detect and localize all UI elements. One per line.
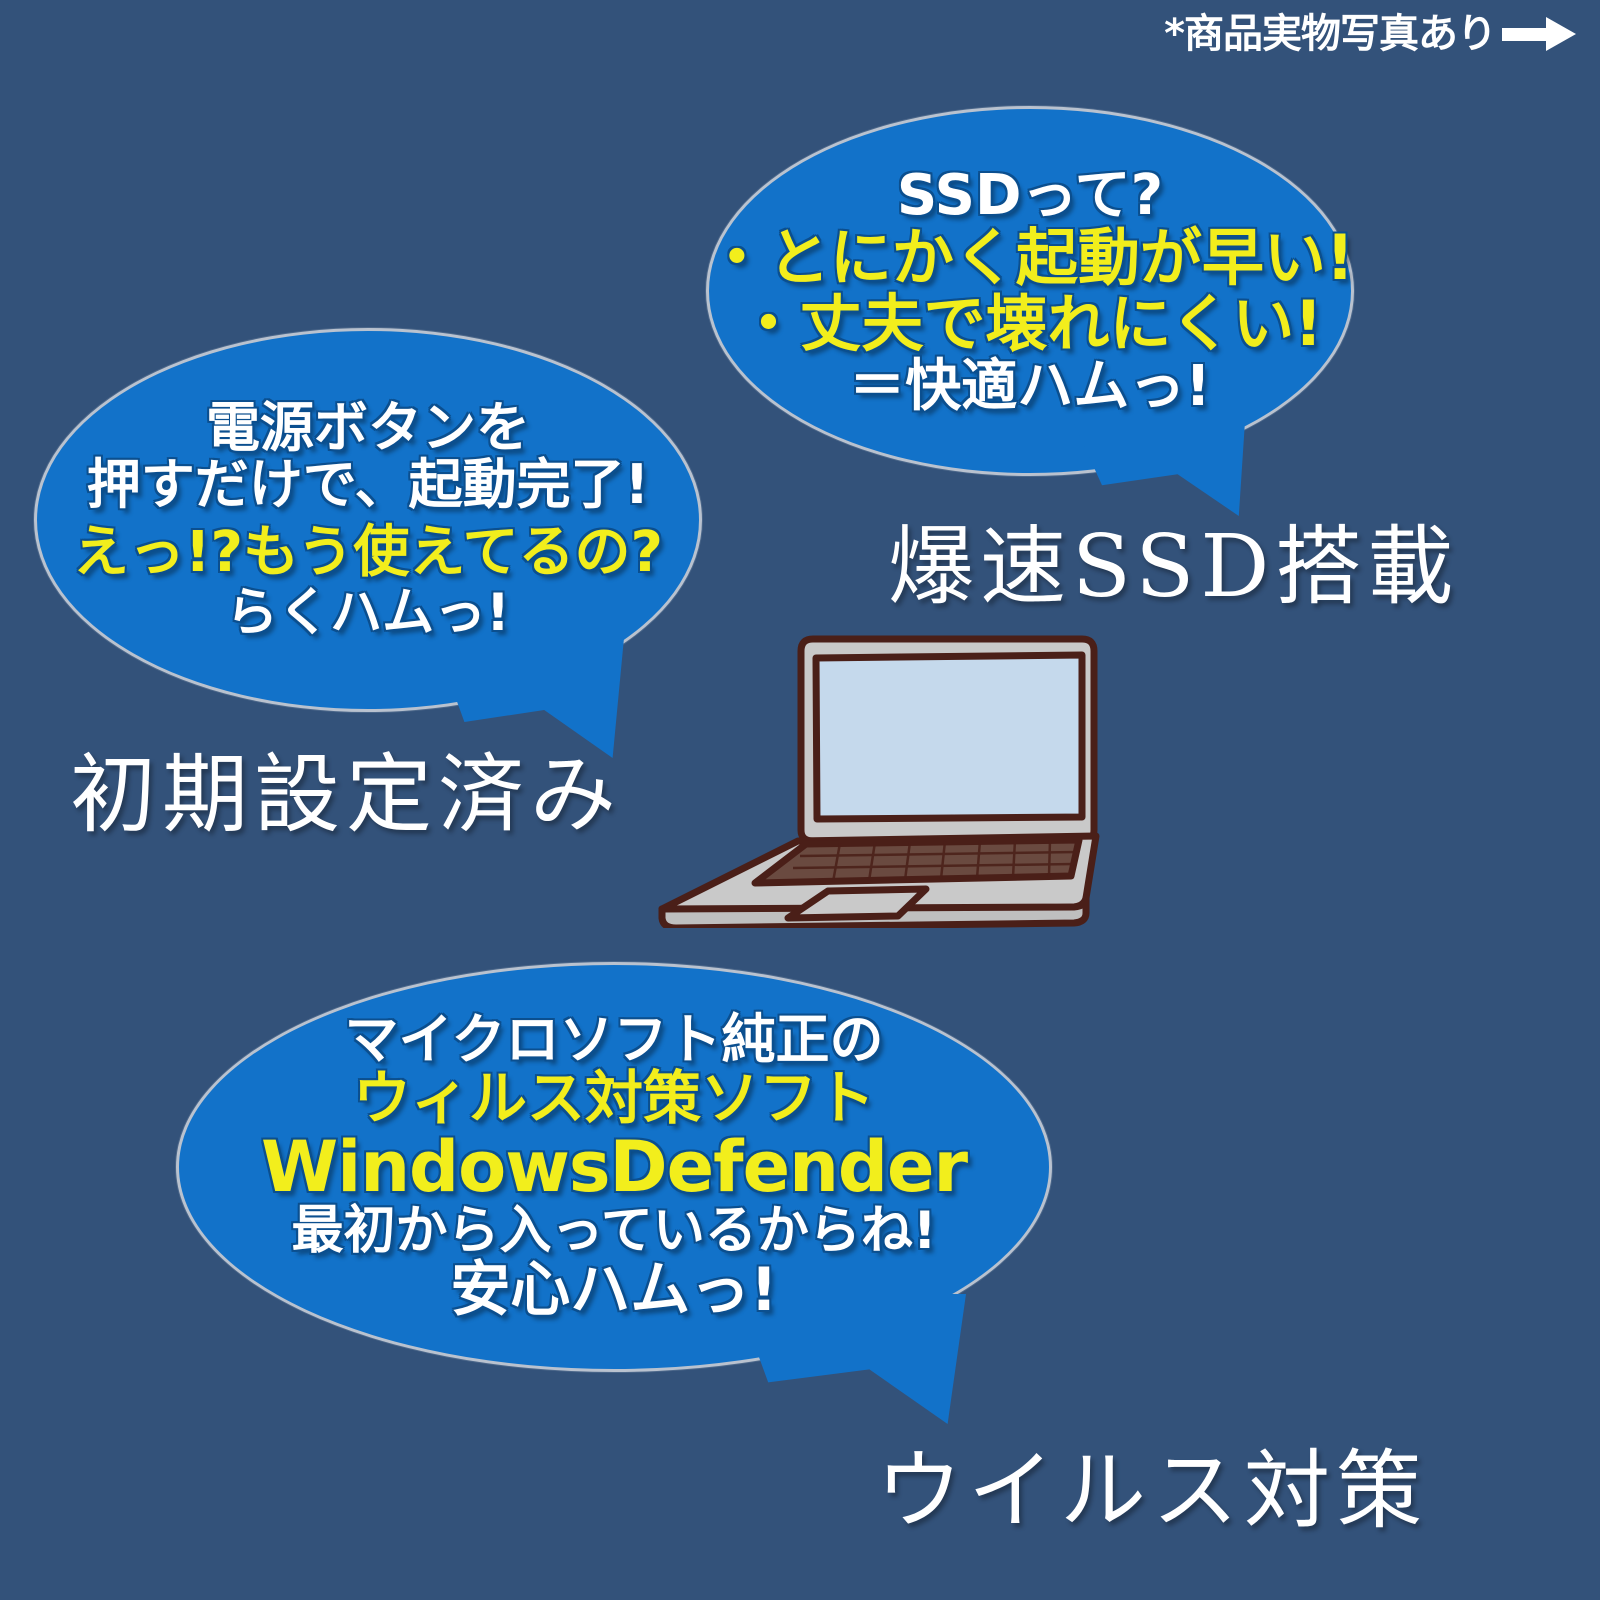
bubble-line: えっ!?もう使えてるの? [73, 523, 663, 582]
bubble-line: 電源ボタンを [206, 399, 530, 456]
bubble-line: ＝快適ハムっ! [849, 357, 1211, 416]
arrow-right-icon-head [1546, 17, 1576, 51]
header-note-text: *商品実物写真あり [1164, 14, 1496, 54]
bubble-line: ウィルス対策ソフト [353, 1068, 875, 1129]
laptop-keyboard [755, 840, 1079, 883]
speech-bubble-ssd: SSDって? ・とにかく起動が早い! ・丈夫で壊れにくい! ＝快適ハムっ! [706, 106, 1354, 476]
bubble-line: ・とにかく起動が早い! [706, 225, 1354, 291]
poster-canvas: *商品実物写真あり SSDって? ・とにかく起動が早い! ・丈夫で壊れにくい! … [0, 0, 1600, 1600]
arrow-right-icon [1502, 17, 1576, 51]
arrow-right-icon-bar [1502, 28, 1550, 41]
speech-bubble-power: 電源ボタンを 押すだけで、起動完了! えっ!?もう使えてるの? らくハムっ! [34, 328, 702, 712]
header-note: *商品実物写真あり [1164, 14, 1576, 54]
caption-virus: ウイルス対策 [876, 1448, 1428, 1534]
bubble-line: マイクロソフト純正の [345, 1011, 884, 1068]
laptop-screen [816, 655, 1082, 819]
bubble-line: 安心ハムっ! [450, 1259, 777, 1323]
speech-bubble-power-lines: 電源ボタンを 押すだけで、起動完了! えっ!?もう使えてるの? らくハムっ! [34, 328, 702, 712]
bubble-line: 押すだけで、起動完了! [87, 456, 649, 513]
bubble-line: SSDって? [897, 166, 1163, 225]
bubble-line: 最初から入っているからね! [291, 1204, 936, 1259]
bubble-line: ・丈夫で壊れにくい! [737, 291, 1322, 357]
bubble-line: WindowsDefender [261, 1130, 967, 1204]
speech-bubble-defender: マイクロソフト純正の ウィルス対策ソフト WindowsDefender 最初か… [176, 962, 1052, 1372]
caption-setup: 初期設定済み [70, 752, 622, 838]
bubble-line: らくハムっ! [226, 586, 510, 641]
caption-ssd: 爆速SSD搭載 [888, 524, 1459, 610]
speech-bubble-ssd-lines: SSDって? ・とにかく起動が早い! ・丈夫で壊れにくい! ＝快適ハムっ! [706, 106, 1354, 476]
speech-bubble-defender-lines: マイクロソフト純正の ウィルス対策ソフト WindowsDefender 最初か… [176, 962, 1052, 1372]
